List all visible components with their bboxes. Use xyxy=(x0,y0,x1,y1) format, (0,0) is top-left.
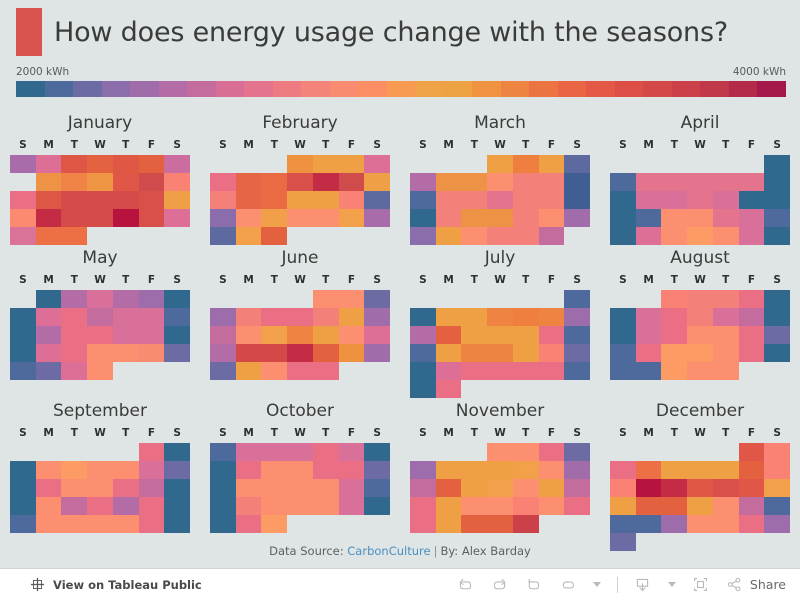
calendar-cell[interactable] xyxy=(113,155,139,173)
calendar-cell[interactable] xyxy=(313,326,339,344)
view-on-tableau-public-button[interactable]: View on Tableau Public xyxy=(28,576,202,594)
calendar-cell[interactable] xyxy=(261,191,287,209)
calendar-cell[interactable] xyxy=(410,479,436,497)
calendar-cell[interactable] xyxy=(513,191,539,209)
calendar-cell[interactable] xyxy=(713,227,739,245)
calendar-cell[interactable] xyxy=(164,443,190,461)
calendar-cell[interactable] xyxy=(564,344,590,362)
calendar-cell[interactable] xyxy=(687,191,713,209)
calendar-cell[interactable] xyxy=(87,461,113,479)
calendar-cell[interactable] xyxy=(410,227,436,245)
calendar-cell[interactable] xyxy=(139,497,165,515)
calendar-cell[interactable] xyxy=(713,191,739,209)
calendar-cell[interactable] xyxy=(164,515,190,533)
calendar-cell[interactable] xyxy=(539,155,565,173)
calendar-cell[interactable] xyxy=(313,344,339,362)
calendar-cell[interactable] xyxy=(461,497,487,515)
calendar-cell[interactable] xyxy=(487,362,513,380)
calendar-cell[interactable] xyxy=(36,155,62,173)
calendar-cell[interactable] xyxy=(661,461,687,479)
calendar-cell[interactable] xyxy=(487,173,513,191)
calendar-cell[interactable] xyxy=(739,443,765,461)
calendar-cell[interactable] xyxy=(236,443,262,461)
calendar-cell[interactable] xyxy=(61,326,87,344)
calendar-cell[interactable] xyxy=(436,191,462,209)
calendar-cell[interactable] xyxy=(461,308,487,326)
calendar-cell[interactable] xyxy=(764,344,790,362)
calendar-cell[interactable] xyxy=(410,209,436,227)
calendar-cell[interactable] xyxy=(287,209,313,227)
calendar-cell[interactable] xyxy=(487,443,513,461)
revert-icon[interactable] xyxy=(525,576,543,594)
calendar-cell[interactable] xyxy=(436,461,462,479)
calendar-cell[interactable] xyxy=(61,191,87,209)
calendar-cell[interactable] xyxy=(564,308,590,326)
calendar-cell[interactable] xyxy=(410,191,436,209)
calendar-cell[interactable] xyxy=(436,308,462,326)
calendar-cell[interactable] xyxy=(339,155,365,173)
calendar-cell[interactable] xyxy=(687,308,713,326)
calendar-cell[interactable] xyxy=(539,308,565,326)
calendar-cell[interactable] xyxy=(610,209,636,227)
calendar-cell[interactable] xyxy=(636,344,662,362)
calendar-cell[interactable] xyxy=(636,191,662,209)
calendar-cell[interactable] xyxy=(687,362,713,380)
calendar-cell[interactable] xyxy=(687,515,713,533)
calendar-cell[interactable] xyxy=(636,308,662,326)
calendar-cell[interactable] xyxy=(713,515,739,533)
calendar-cell[interactable] xyxy=(210,173,236,191)
calendar-cell[interactable] xyxy=(261,308,287,326)
fullscreen-icon[interactable] xyxy=(692,576,710,594)
calendar-cell[interactable] xyxy=(139,479,165,497)
calendar-cell[interactable] xyxy=(436,173,462,191)
calendar-cell[interactable] xyxy=(339,209,365,227)
calendar-cell[interactable] xyxy=(713,209,739,227)
calendar-cell[interactable] xyxy=(487,461,513,479)
calendar-cell[interactable] xyxy=(339,443,365,461)
calendar-cell[interactable] xyxy=(461,173,487,191)
calendar-cell[interactable] xyxy=(539,344,565,362)
calendar-cell[interactable] xyxy=(313,191,339,209)
calendar-cell[interactable] xyxy=(10,191,36,209)
calendar-cell[interactable] xyxy=(10,326,36,344)
calendar-cell[interactable] xyxy=(410,326,436,344)
calendar-cell[interactable] xyxy=(513,497,539,515)
calendar-cell[interactable] xyxy=(713,326,739,344)
calendar-cell[interactable] xyxy=(364,209,390,227)
calendar-cell[interactable] xyxy=(513,461,539,479)
calendar-cell[interactable] xyxy=(236,227,262,245)
calendar-cell[interactable] xyxy=(713,344,739,362)
calendar-cell[interactable] xyxy=(739,461,765,479)
calendar-cell[interactable] xyxy=(610,344,636,362)
calendar-cell[interactable] xyxy=(487,326,513,344)
calendar-cell[interactable] xyxy=(113,173,139,191)
calendar-cell[interactable] xyxy=(636,326,662,344)
calendar-cell[interactable] xyxy=(339,326,365,344)
calendar-cell[interactable] xyxy=(87,344,113,362)
calendar-cell[interactable] xyxy=(636,461,662,479)
calendar-cell[interactable] xyxy=(261,173,287,191)
calendar-cell[interactable] xyxy=(339,461,365,479)
refresh-icon[interactable] xyxy=(559,576,577,594)
calendar-cell[interactable] xyxy=(61,173,87,191)
calendar-cell[interactable] xyxy=(87,209,113,227)
calendar-cell[interactable] xyxy=(410,308,436,326)
calendar-cell[interactable] xyxy=(61,227,87,245)
calendar-cell[interactable] xyxy=(661,173,687,191)
calendar-cell[interactable] xyxy=(10,515,36,533)
calendar-cell[interactable] xyxy=(61,362,87,380)
calendar-cell[interactable] xyxy=(339,308,365,326)
calendar-cell[interactable] xyxy=(436,362,462,380)
calendar-cell[interactable] xyxy=(410,515,436,533)
calendar-cell[interactable] xyxy=(436,479,462,497)
calendar-cell[interactable] xyxy=(487,155,513,173)
calendar-cell[interactable] xyxy=(287,479,313,497)
calendar-cell[interactable] xyxy=(113,344,139,362)
calendar-cell[interactable] xyxy=(313,173,339,191)
calendar-cell[interactable] xyxy=(436,497,462,515)
calendar-cell[interactable] xyxy=(636,209,662,227)
calendar-cell[interactable] xyxy=(164,209,190,227)
calendar-cell[interactable] xyxy=(87,173,113,191)
calendar-cell[interactable] xyxy=(139,191,165,209)
calendar-cell[interactable] xyxy=(210,227,236,245)
calendar-cell[interactable] xyxy=(313,461,339,479)
calendar-cell[interactable] xyxy=(539,479,565,497)
calendar-cell[interactable] xyxy=(210,362,236,380)
calendar-cell[interactable] xyxy=(764,497,790,515)
calendar-cell[interactable] xyxy=(661,344,687,362)
calendar-cell[interactable] xyxy=(364,290,390,308)
calendar-cell[interactable] xyxy=(610,227,636,245)
calendar-cell[interactable] xyxy=(513,326,539,344)
calendar-cell[interactable] xyxy=(164,191,190,209)
calendar-cell[interactable] xyxy=(87,497,113,515)
calendar-cell[interactable] xyxy=(113,479,139,497)
calendar-cell[interactable] xyxy=(461,209,487,227)
calendar-cell[interactable] xyxy=(87,362,113,380)
calendar-cell[interactable] xyxy=(410,380,436,398)
download-caret-icon[interactable] xyxy=(668,582,676,587)
calendar-cell[interactable] xyxy=(36,362,62,380)
calendar-cell[interactable] xyxy=(10,362,36,380)
calendar-cell[interactable] xyxy=(764,191,790,209)
calendar-cell[interactable] xyxy=(236,362,262,380)
calendar-cell[interactable] xyxy=(564,290,590,308)
calendar-cell[interactable] xyxy=(61,515,87,533)
calendar-cell[interactable] xyxy=(313,479,339,497)
calendar-cell[interactable] xyxy=(436,227,462,245)
calendar-cell[interactable] xyxy=(539,209,565,227)
calendar-cell[interactable] xyxy=(339,173,365,191)
calendar-cell[interactable] xyxy=(487,308,513,326)
calendar-cell[interactable] xyxy=(661,191,687,209)
calendar-cell[interactable] xyxy=(113,290,139,308)
calendar-cell[interactable] xyxy=(139,209,165,227)
calendar-cell[interactable] xyxy=(236,191,262,209)
calendar-cell[interactable] xyxy=(461,191,487,209)
calendar-cell[interactable] xyxy=(487,227,513,245)
calendar-cell[interactable] xyxy=(210,479,236,497)
calendar-cell[interactable] xyxy=(610,173,636,191)
calendar-cell[interactable] xyxy=(687,479,713,497)
calendar-cell[interactable] xyxy=(661,290,687,308)
calendar-cell[interactable] xyxy=(636,362,662,380)
calendar-cell[interactable] xyxy=(261,443,287,461)
calendar-cell[interactable] xyxy=(36,227,62,245)
calendar-cell[interactable] xyxy=(687,227,713,245)
calendar-cell[interactable] xyxy=(139,344,165,362)
calendar-cell[interactable] xyxy=(113,326,139,344)
calendar-cell[interactable] xyxy=(164,308,190,326)
calendar-cell[interactable] xyxy=(661,479,687,497)
calendar-cell[interactable] xyxy=(287,326,313,344)
calendar-cell[interactable] xyxy=(461,344,487,362)
calendar-cell[interactable] xyxy=(539,362,565,380)
calendar-cell[interactable] xyxy=(287,155,313,173)
calendar-cell[interactable] xyxy=(661,497,687,515)
calendar-cell[interactable] xyxy=(287,173,313,191)
caret-down-icon[interactable] xyxy=(593,582,601,587)
calendar-cell[interactable] xyxy=(87,479,113,497)
calendar-cell[interactable] xyxy=(61,308,87,326)
data-source-link[interactable]: CarbonCulture xyxy=(347,544,430,558)
calendar-cell[interactable] xyxy=(636,227,662,245)
calendar-cell[interactable] xyxy=(764,461,790,479)
calendar-cell[interactable] xyxy=(236,308,262,326)
calendar-cell[interactable] xyxy=(364,461,390,479)
calendar-cell[interactable] xyxy=(210,209,236,227)
calendar-cell[interactable] xyxy=(139,326,165,344)
calendar-cell[interactable] xyxy=(236,479,262,497)
calendar-cell[interactable] xyxy=(636,497,662,515)
calendar-cell[interactable] xyxy=(410,344,436,362)
calendar-cell[interactable] xyxy=(713,290,739,308)
calendar-cell[interactable] xyxy=(164,290,190,308)
calendar-cell[interactable] xyxy=(10,497,36,515)
calendar-cell[interactable] xyxy=(261,479,287,497)
calendar-cell[interactable] xyxy=(436,344,462,362)
calendar-cell[interactable] xyxy=(10,209,36,227)
calendar-cell[interactable] xyxy=(313,155,339,173)
calendar-cell[interactable] xyxy=(610,191,636,209)
calendar-cell[interactable] xyxy=(139,308,165,326)
calendar-cell[interactable] xyxy=(410,497,436,515)
calendar-cell[interactable] xyxy=(364,497,390,515)
calendar-cell[interactable] xyxy=(636,479,662,497)
calendar-cell[interactable] xyxy=(61,155,87,173)
calendar-cell[interactable] xyxy=(364,155,390,173)
calendar-cell[interactable] xyxy=(739,497,765,515)
calendar-cell[interactable] xyxy=(261,227,287,245)
calendar-cell[interactable] xyxy=(513,173,539,191)
calendar-cell[interactable] xyxy=(513,227,539,245)
calendar-cell[interactable] xyxy=(339,191,365,209)
calendar-cell[interactable] xyxy=(236,461,262,479)
calendar-cell[interactable] xyxy=(661,227,687,245)
calendar-cell[interactable] xyxy=(261,209,287,227)
calendar-cell[interactable] xyxy=(513,155,539,173)
calendar-cell[interactable] xyxy=(113,461,139,479)
redo-icon[interactable] xyxy=(491,576,509,594)
calendar-cell[interactable] xyxy=(764,173,790,191)
calendar-cell[interactable] xyxy=(364,326,390,344)
calendar-cell[interactable] xyxy=(164,155,190,173)
calendar-cell[interactable] xyxy=(10,479,36,497)
calendar-cell[interactable] xyxy=(113,209,139,227)
calendar-cell[interactable] xyxy=(236,515,262,533)
calendar-cell[interactable] xyxy=(436,326,462,344)
calendar-cell[interactable] xyxy=(713,461,739,479)
calendar-cell[interactable] xyxy=(364,443,390,461)
calendar-cell[interactable] xyxy=(461,515,487,533)
calendar-cell[interactable] xyxy=(364,479,390,497)
calendar-cell[interactable] xyxy=(410,173,436,191)
calendar-cell[interactable] xyxy=(487,209,513,227)
calendar-cell[interactable] xyxy=(139,155,165,173)
calendar-cell[interactable] xyxy=(687,344,713,362)
calendar-cell[interactable] xyxy=(764,326,790,344)
calendar-cell[interactable] xyxy=(61,290,87,308)
calendar-cell[interactable] xyxy=(36,461,62,479)
calendar-cell[interactable] xyxy=(739,479,765,497)
calendar-cell[interactable] xyxy=(539,173,565,191)
calendar-cell[interactable] xyxy=(610,308,636,326)
calendar-cell[interactable] xyxy=(287,344,313,362)
calendar-cell[interactable] xyxy=(539,497,565,515)
calendar-cell[interactable] xyxy=(36,479,62,497)
calendar-cell[interactable] xyxy=(564,155,590,173)
calendar-cell[interactable] xyxy=(36,290,62,308)
calendar-cell[interactable] xyxy=(139,443,165,461)
calendar-cell[interactable] xyxy=(564,479,590,497)
calendar-cell[interactable] xyxy=(236,326,262,344)
calendar-cell[interactable] xyxy=(36,191,62,209)
calendar-cell[interactable] xyxy=(513,209,539,227)
calendar-cell[interactable] xyxy=(739,515,765,533)
calendar-cell[interactable] xyxy=(487,515,513,533)
calendar-cell[interactable] xyxy=(261,326,287,344)
calendar-cell[interactable] xyxy=(610,479,636,497)
calendar-cell[interactable] xyxy=(61,479,87,497)
calendar-cell[interactable] xyxy=(513,362,539,380)
calendar-cell[interactable] xyxy=(61,461,87,479)
calendar-cell[interactable] xyxy=(36,326,62,344)
calendar-cell[interactable] xyxy=(539,461,565,479)
calendar-cell[interactable] xyxy=(513,443,539,461)
calendar-cell[interactable] xyxy=(564,461,590,479)
calendar-cell[interactable] xyxy=(87,326,113,344)
calendar-cell[interactable] xyxy=(61,209,87,227)
calendar-cell[interactable] xyxy=(436,380,462,398)
calendar-cell[interactable] xyxy=(764,290,790,308)
calendar-cell[interactable] xyxy=(113,497,139,515)
calendar-cell[interactable] xyxy=(487,497,513,515)
calendar-cell[interactable] xyxy=(739,326,765,344)
calendar-cell[interactable] xyxy=(687,209,713,227)
calendar-cell[interactable] xyxy=(764,479,790,497)
calendar-cell[interactable] xyxy=(287,461,313,479)
calendar-cell[interactable] xyxy=(87,308,113,326)
calendar-cell[interactable] xyxy=(313,290,339,308)
calendar-cell[interactable] xyxy=(739,308,765,326)
calendar-cell[interactable] xyxy=(539,326,565,344)
calendar-cell[interactable] xyxy=(36,173,62,191)
calendar-cell[interactable] xyxy=(487,191,513,209)
calendar-cell[interactable] xyxy=(436,209,462,227)
calendar-cell[interactable] xyxy=(287,443,313,461)
calendar-cell[interactable] xyxy=(164,479,190,497)
calendar-cell[interactable] xyxy=(164,173,190,191)
calendar-cell[interactable] xyxy=(661,326,687,344)
calendar-cell[interactable] xyxy=(287,191,313,209)
calendar-cell[interactable] xyxy=(487,344,513,362)
calendar-cell[interactable] xyxy=(164,344,190,362)
calendar-cell[interactable] xyxy=(139,461,165,479)
calendar-cell[interactable] xyxy=(287,497,313,515)
calendar-cell[interactable] xyxy=(513,308,539,326)
calendar-cell[interactable] xyxy=(10,308,36,326)
calendar-cell[interactable] xyxy=(610,515,636,533)
calendar-cell[interactable] xyxy=(261,497,287,515)
calendar-cell[interactable] xyxy=(210,326,236,344)
calendar-cell[interactable] xyxy=(539,227,565,245)
calendar-cell[interactable] xyxy=(236,344,262,362)
calendar-cell[interactable] xyxy=(164,326,190,344)
calendar-cell[interactable] xyxy=(713,479,739,497)
calendar-cell[interactable] xyxy=(313,497,339,515)
calendar-cell[interactable] xyxy=(764,209,790,227)
calendar-cell[interactable] xyxy=(610,497,636,515)
calendar-cell[interactable] xyxy=(687,173,713,191)
calendar-cell[interactable] xyxy=(739,191,765,209)
calendar-cell[interactable] xyxy=(261,461,287,479)
calendar-cell[interactable] xyxy=(487,479,513,497)
calendar-cell[interactable] xyxy=(113,191,139,209)
calendar-cell[interactable] xyxy=(764,155,790,173)
calendar-cell[interactable] xyxy=(210,443,236,461)
calendar-cell[interactable] xyxy=(764,515,790,533)
calendar-cell[interactable] xyxy=(339,344,365,362)
calendar-cell[interactable] xyxy=(10,461,36,479)
calendar-cell[interactable] xyxy=(564,443,590,461)
calendar-cell[interactable] xyxy=(210,497,236,515)
calendar-cell[interactable] xyxy=(87,191,113,209)
calendar-cell[interactable] xyxy=(436,515,462,533)
calendar-cell[interactable] xyxy=(364,344,390,362)
calendar-cell[interactable] xyxy=(661,362,687,380)
calendar-cell[interactable] xyxy=(713,497,739,515)
calendar-cell[interactable] xyxy=(739,209,765,227)
calendar-cell[interactable] xyxy=(764,443,790,461)
calendar-cell[interactable] xyxy=(139,173,165,191)
calendar-cell[interactable] xyxy=(513,479,539,497)
calendar-cell[interactable] xyxy=(513,344,539,362)
calendar-cell[interactable] xyxy=(539,443,565,461)
calendar-cell[interactable] xyxy=(610,326,636,344)
calendar-cell[interactable] xyxy=(164,461,190,479)
calendar-cell[interactable] xyxy=(164,497,190,515)
calendar-cell[interactable] xyxy=(261,515,287,533)
calendar-cell[interactable] xyxy=(210,308,236,326)
calendar-cell[interactable] xyxy=(739,173,765,191)
calendar-cell[interactable] xyxy=(36,308,62,326)
calendar-cell[interactable] xyxy=(36,344,62,362)
calendar-cell[interactable] xyxy=(687,497,713,515)
